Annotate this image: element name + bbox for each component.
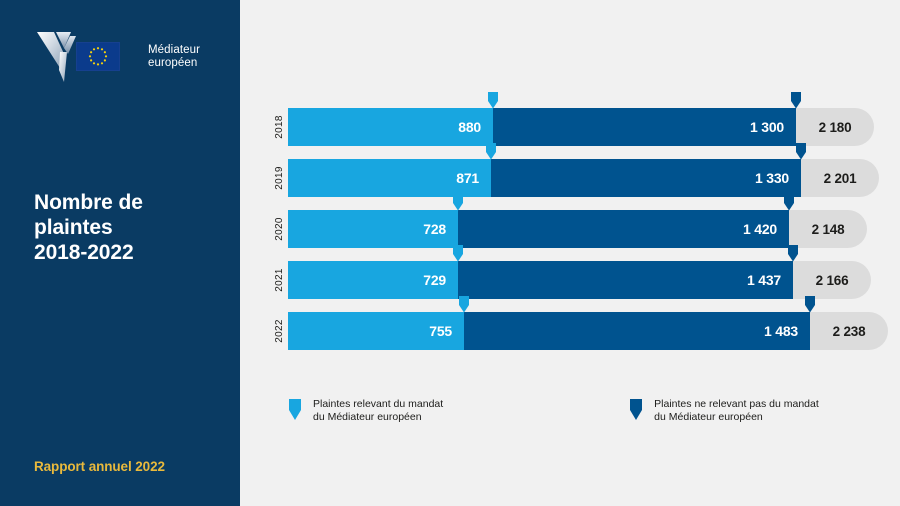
chart-row: 20227551 4832 238 <box>288 312 888 350</box>
chart-row: 20188801 3002 180 <box>288 108 888 146</box>
legend-item-in-mandate: Plaintes relevant du mandat du Médiateur… <box>288 398 443 424</box>
bar-segment-in-mandate-value: 729 <box>423 272 458 288</box>
bar-segment-total-value: 2 180 <box>819 120 852 135</box>
pin-marker-out-mandate-icon <box>788 245 799 262</box>
bar-segment-out-mandate: 1 437 <box>458 261 793 299</box>
pin-marker-out-mandate-icon <box>784 194 795 211</box>
bar-segment-in-mandate: 871 <box>288 159 491 197</box>
bar-segment-out-mandate: 1 483 <box>464 312 810 350</box>
infographic-page: Médiateur européen Nombre de plaintes 20… <box>0 0 900 506</box>
bar-track: 7291 4372 166 <box>288 261 888 299</box>
sidebar: Médiateur européen Nombre de plaintes 20… <box>0 0 240 506</box>
bar-segment-in-mandate-value: 880 <box>458 119 493 135</box>
pin-marker-light-blue-icon <box>288 399 302 421</box>
bar-segment-total-value: 2 166 <box>816 273 849 288</box>
bar-track: 8711 3302 201 <box>288 159 888 197</box>
bar-track: 7281 4202 148 <box>288 210 888 248</box>
logo-wordmark: Médiateur européen <box>148 44 200 70</box>
legend-label-out-mandate: Plaintes ne relevant pas du mandat du Mé… <box>654 398 819 424</box>
bar-track: 7551 4832 238 <box>288 312 888 350</box>
stacked-bar-chart: 20188801 3002 18020198711 3302 201202072… <box>288 108 888 353</box>
chart-row: 20217291 4372 166 <box>288 261 888 299</box>
bar-segment-out-mandate-value: 1 483 <box>764 323 810 339</box>
chart-legend: Plaintes relevant du mandat du Médiateur… <box>288 398 848 424</box>
bar-segment-out-mandate-value: 1 330 <box>755 170 801 186</box>
page-title: Nombre de plaintes 2018-2022 <box>34 190 143 265</box>
pin-marker-out-mandate-icon <box>796 143 807 160</box>
logo: Médiateur européen <box>34 26 200 88</box>
bar-segment-out-mandate-value: 1 420 <box>743 221 789 237</box>
bar-segment-total-value: 2 148 <box>812 222 845 237</box>
eu-flag-icon <box>76 42 120 71</box>
bar-segment-in-mandate-value: 728 <box>423 221 458 237</box>
bar-track: 8801 3002 180 <box>288 108 888 146</box>
bar-segment-total: 2 148 <box>789 210 867 248</box>
bar-segment-in-mandate: 729 <box>288 261 458 299</box>
bar-segment-total-value: 2 238 <box>833 324 866 339</box>
bar-segment-in-mandate: 728 <box>288 210 458 248</box>
pin-marker-out-mandate-icon <box>791 92 802 109</box>
pin-marker-in-mandate-icon <box>459 296 470 313</box>
pin-marker-in-mandate-icon <box>453 245 464 262</box>
bar-segment-total: 2 201 <box>801 159 879 197</box>
bar-segment-total: 2 238 <box>810 312 888 350</box>
chart-row: 20207281 4202 148 <box>288 210 888 248</box>
bar-segment-out-mandate: 1 300 <box>493 108 796 146</box>
pin-marker-in-mandate-icon <box>488 92 499 109</box>
bar-segment-total-value: 2 201 <box>824 171 857 186</box>
bar-segment-in-mandate: 880 <box>288 108 493 146</box>
chart-row: 20198711 3302 201 <box>288 159 888 197</box>
bar-segment-in-mandate-value: 755 <box>429 323 464 339</box>
pin-marker-in-mandate-icon <box>486 143 497 160</box>
legend-label-in-mandate: Plaintes relevant du mandat du Médiateur… <box>313 398 443 424</box>
pin-marker-dark-blue-icon <box>629 399 643 421</box>
chart-pane: 20188801 3002 18020198711 3302 201202072… <box>240 0 900 506</box>
pin-marker-in-mandate-icon <box>453 194 464 211</box>
bar-segment-total: 2 180 <box>796 108 874 146</box>
bar-segment-out-mandate: 1 420 <box>458 210 789 248</box>
bar-segment-in-mandate: 755 <box>288 312 464 350</box>
bar-segment-in-mandate-value: 871 <box>456 170 491 186</box>
pin-marker-out-mandate-icon <box>805 296 816 313</box>
report-footer-label: Rapport annuel 2022 <box>34 459 165 474</box>
bar-segment-total: 2 166 <box>793 261 871 299</box>
bar-segment-out-mandate-value: 1 437 <box>747 272 793 288</box>
bar-segment-out-mandate: 1 330 <box>491 159 801 197</box>
legend-item-out-mandate: Plaintes ne relevant pas du mandat du Mé… <box>629 398 819 424</box>
bar-segment-out-mandate-value: 1 300 <box>750 119 796 135</box>
